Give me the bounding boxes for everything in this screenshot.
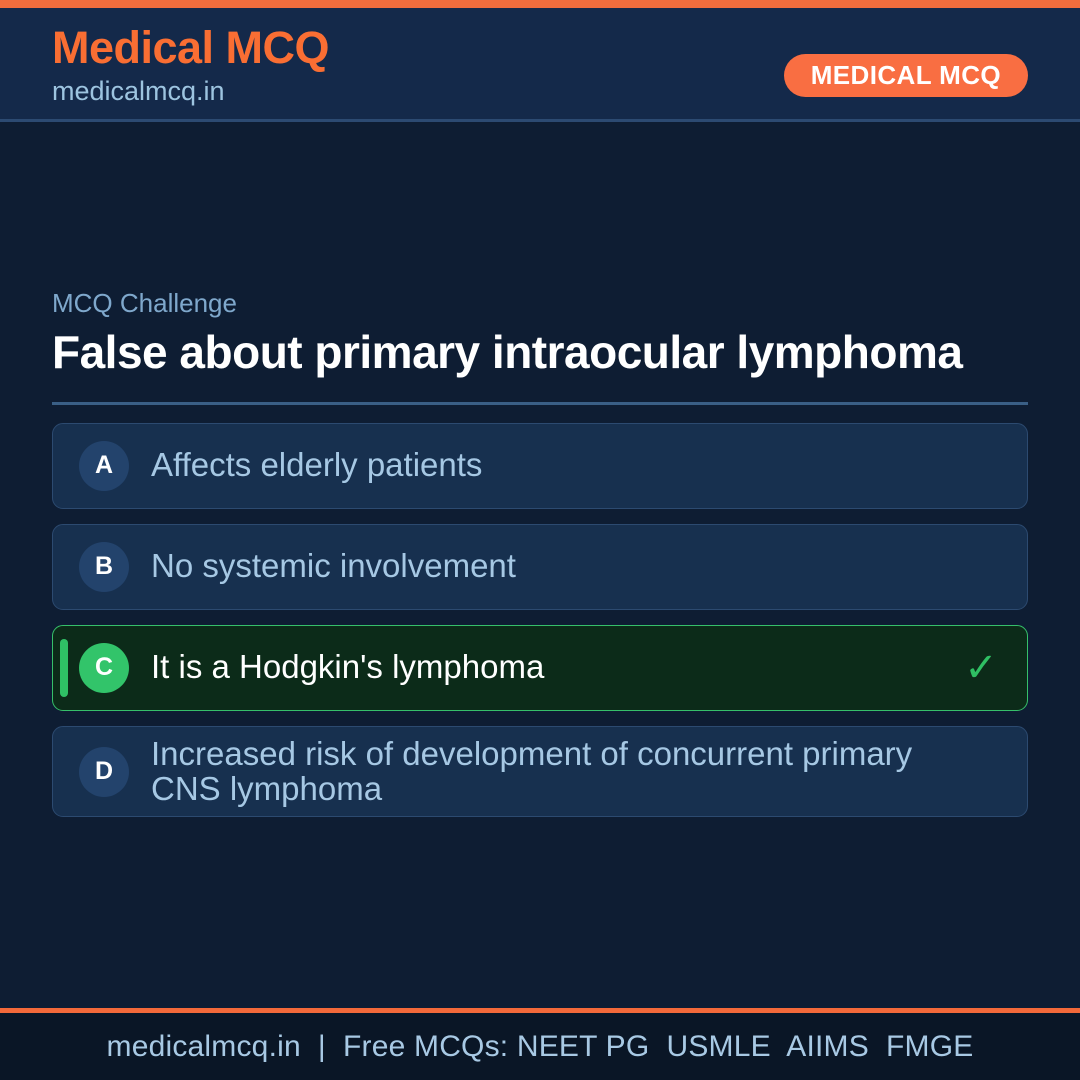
option-letter-b: B — [79, 542, 129, 592]
option-row-d[interactable]: D Increased risk of development of concu… — [52, 726, 1028, 818]
option-letter-a: A — [79, 441, 129, 491]
header-brand-badge[interactable]: MEDICAL MCQ — [784, 54, 1028, 97]
logo-title: Medical MCQ — [52, 24, 329, 73]
top-accent-bar — [0, 0, 1080, 8]
option-text-c: It is a Hodgkin's lymphoma — [151, 650, 959, 685]
option-row-b[interactable]: B No systemic involvement — [52, 524, 1028, 610]
option-text-b: No systemic involvement — [151, 549, 959, 584]
title-divider — [52, 402, 1028, 405]
eyebrow-label: MCQ Challenge — [52, 288, 1028, 319]
option-row-c[interactable]: C It is a Hodgkin's lymphoma ✓ — [52, 625, 1028, 711]
page-header: Medical MCQ medicalmcq.in MEDICAL MCQ — [0, 8, 1080, 122]
option-row-a[interactable]: A Affects elderly patients — [52, 423, 1028, 509]
option-text-d: Increased risk of development of concurr… — [151, 737, 959, 807]
question-block: MCQ Challenge False about primary intrao… — [52, 288, 1028, 817]
checkmark-icon-c: ✓ — [959, 648, 1003, 688]
options-list: A Affects elderly patients B No systemic… — [52, 423, 1028, 818]
main-content: MCQ Challenge False about primary intrao… — [0, 125, 1080, 1009]
page-title: False about primary intraocular lymphoma — [52, 326, 1028, 379]
page-footer: medicalmcq.in | Free MCQs: NEET PG USMLE… — [0, 1013, 1080, 1080]
option-letter-d: D — [79, 747, 129, 797]
logo-block[interactable]: Medical MCQ medicalmcq.in — [52, 24, 329, 107]
option-letter-c: C — [79, 643, 129, 693]
footer-text: medicalmcq.in | Free MCQs: NEET PG USMLE… — [107, 1030, 974, 1064]
correct-accent-bar — [60, 639, 68, 697]
logo-subtitle: medicalmcq.in — [52, 75, 329, 107]
option-text-a: Affects elderly patients — [151, 448, 959, 483]
